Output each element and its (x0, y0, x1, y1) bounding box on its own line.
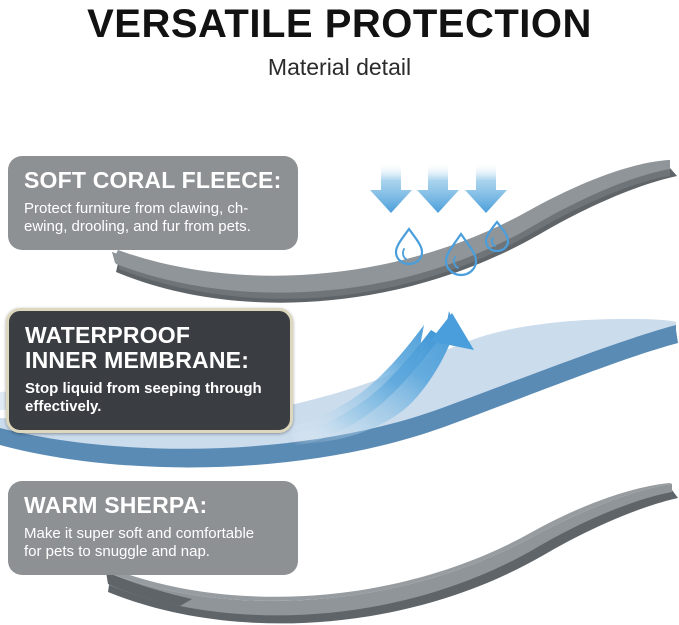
page-subtitle: Material detail (0, 46, 679, 80)
curved-up-arrow-icon (290, 311, 468, 444)
callout-body: Make it super soft and comfortable for p… (24, 525, 282, 561)
callout-heading: SOFT CORAL FLEECE: (24, 168, 282, 193)
icon-group-water-droplets (396, 222, 508, 275)
page-title: VERSATILE PROTECTION (0, 0, 679, 46)
infographic-canvas: VERSATILE PROTECTION Material detail (0, 0, 679, 625)
arrow-head (430, 313, 474, 350)
callout-heading: WATERPROOF INNER MEMBRANE: (25, 323, 274, 373)
down-arrow-icon (417, 163, 459, 213)
down-arrow-icon (370, 163, 412, 213)
callout-body: Protect furniture from clawing, ch- ewin… (24, 200, 282, 236)
callout-heading: WARM SHERPA: (24, 493, 282, 518)
header: VERSATILE PROTECTION Material detail (0, 0, 679, 80)
callout-card-soft-coral-fleece[interactable]: SOFT CORAL FLEECE: Protect furniture fro… (8, 156, 298, 250)
down-arrow-icon (465, 163, 507, 213)
water-droplet-icon (486, 222, 508, 251)
water-droplet-icon (396, 229, 422, 264)
callout-card-warm-sherpa[interactable]: WARM SHERPA: Make it super soft and comf… (8, 481, 298, 575)
water-droplet-icon (446, 234, 476, 275)
icon-group-down-arrows (370, 163, 507, 213)
icon-group-curved-up-arrow (290, 311, 474, 446)
callout-body: Stop liquid from seeping through effecti… (25, 380, 274, 416)
callout-card-waterproof-inner-membrane[interactable]: WATERPROOF INNER MEMBRANE: Stop liquid f… (6, 308, 293, 433)
